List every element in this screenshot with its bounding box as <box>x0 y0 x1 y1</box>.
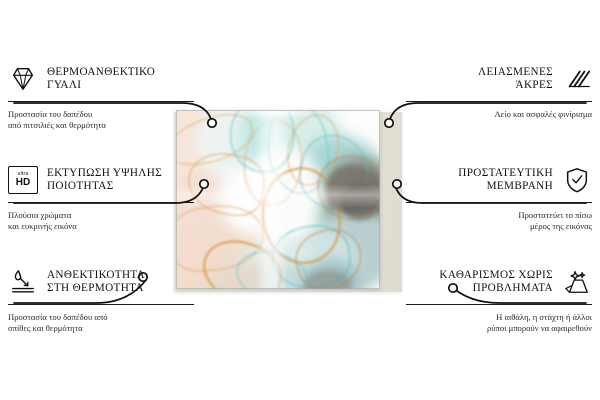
feature-description: Πλούσια χρώματα και ευκρινής εικόνα <box>8 210 194 232</box>
sparkle-cloth-icon <box>562 267 592 297</box>
feature-title: ΠΡΟΣΤΑΤΕΥΤΙΚΗ ΜΕΜΒΡΑΝΗ <box>458 167 553 194</box>
feature-description: Λείο και ασφαλές φινίρισμα <box>406 109 592 120</box>
feature-title: ΚΑΘΑΡΙΣΜΟΣ ΧΩΡΙΣ ΠΡΟΒΛΗΜΑΤΑ <box>439 269 553 296</box>
feature-heading: ΚΑΘΑΡΙΣΜΟΣ ΧΩΡΙΣ ΠΡΟΒΛΗΜΑΤΑ <box>406 265 592 299</box>
feature-easy-cleaning: ΚΑΘΑΡΙΣΜΟΣ ΧΩΡΙΣ ΠΡΟΒΛΗΜΑΤΑ Η αιθάλη, η … <box>406 265 592 334</box>
feature-title: ΘΕΡΜΟΑΝΘΕΚΤΙΚΟ ΓΥΑΛΙ <box>47 66 155 93</box>
feature-title: ΑΝΘΕΚΤΙΚΟΤΗΤΑ ΣΤΗ ΘΕΡΜΟΤΗΤΑ <box>47 269 145 296</box>
feature-polished-edges: ΛΕΙΑΣΜΕΝΕΣ ΆΚΡΕΣ Λείο και ασφαλές φινίρι… <box>406 62 592 120</box>
feature-heading: ΑΝΘΕΚΤΙΚΟΤΗΤΑ ΣΤΗ ΘΕΡΜΟΤΗΤΑ <box>8 265 194 299</box>
ultra-hd-icon: ultra HD <box>8 165 38 195</box>
feature-title: ΕΚΤΥΠΩΣΗ ΥΨΗΛΗΣ ΠΟΙΟΤΗΤΑΣ <box>47 167 162 194</box>
ultra-hd-icon-bottom-label: HD <box>16 178 30 188</box>
feature-divider <box>8 101 194 102</box>
feature-protective-membrane: ΠΡΟΣΤΑΤΕΥΤΙΚΗ ΜΕΜΒΡΑΝΗ Προστατεύει το πί… <box>406 163 592 232</box>
feature-divider <box>8 202 194 203</box>
feature-description: Προστασία του δαπέδου από σπίθες και θερ… <box>8 312 194 334</box>
feature-divider <box>406 101 592 102</box>
feature-divider <box>406 304 592 305</box>
feature-high-quality-print: ultra HD ΕΚΤΥΠΩΣΗ ΥΨΗΛΗΣ ΠΟΙΟΤΗΤΑΣ Πλούσ… <box>8 163 194 232</box>
diamond-icon <box>8 64 38 94</box>
feature-heading: ΘΕΡΜΟΑΝΘΕΚΤΙΚΟ ΓΥΑΛΙ <box>8 62 194 96</box>
feature-description: Προστατεύει το πίσω μέρος της εικόνας <box>406 210 592 232</box>
feature-heat-resistant-glass: ΘΕΡΜΟΑΝΘΕΚΤΙΚΟ ΓΥΑΛΙ Προστασία του δαπέδ… <box>8 62 194 131</box>
feature-heading: ΠΡΟΣΤΑΤΕΥΤΙΚΗ ΜΕΜΒΡΑΝΗ <box>406 163 592 197</box>
feature-description: Προστασία του δαπέδου από πιτσιλιές και … <box>8 109 194 131</box>
feature-divider <box>8 304 194 305</box>
flame-on-surface-icon <box>8 267 38 297</box>
feature-heading: ultra HD ΕΚΤΥΠΩΣΗ ΥΨΗΛΗΣ ΠΟΙΟΤΗΤΑΣ <box>8 163 194 197</box>
feature-heading: ΛΕΙΑΣΜΕΝΕΣ ΆΚΡΕΣ <box>406 62 592 96</box>
feature-heat-durability: ΑΝΘΕΚΤΙΚΟΤΗΤΑ ΣΤΗ ΘΕΡΜΟΤΗΤΑ Προστασία το… <box>8 265 194 334</box>
diagonal-stripes-icon <box>562 64 592 94</box>
shield-check-icon <box>562 165 592 195</box>
glass-panel <box>176 110 380 289</box>
product-image <box>176 110 404 292</box>
feature-description: Η αιθάλη, η στάχτη ή άλλοι ρύποι μπορούν… <box>406 312 592 334</box>
feature-divider <box>406 202 592 203</box>
feature-title: ΛΕΙΑΣΜΕΝΕΣ ΆΚΡΕΣ <box>478 66 553 93</box>
